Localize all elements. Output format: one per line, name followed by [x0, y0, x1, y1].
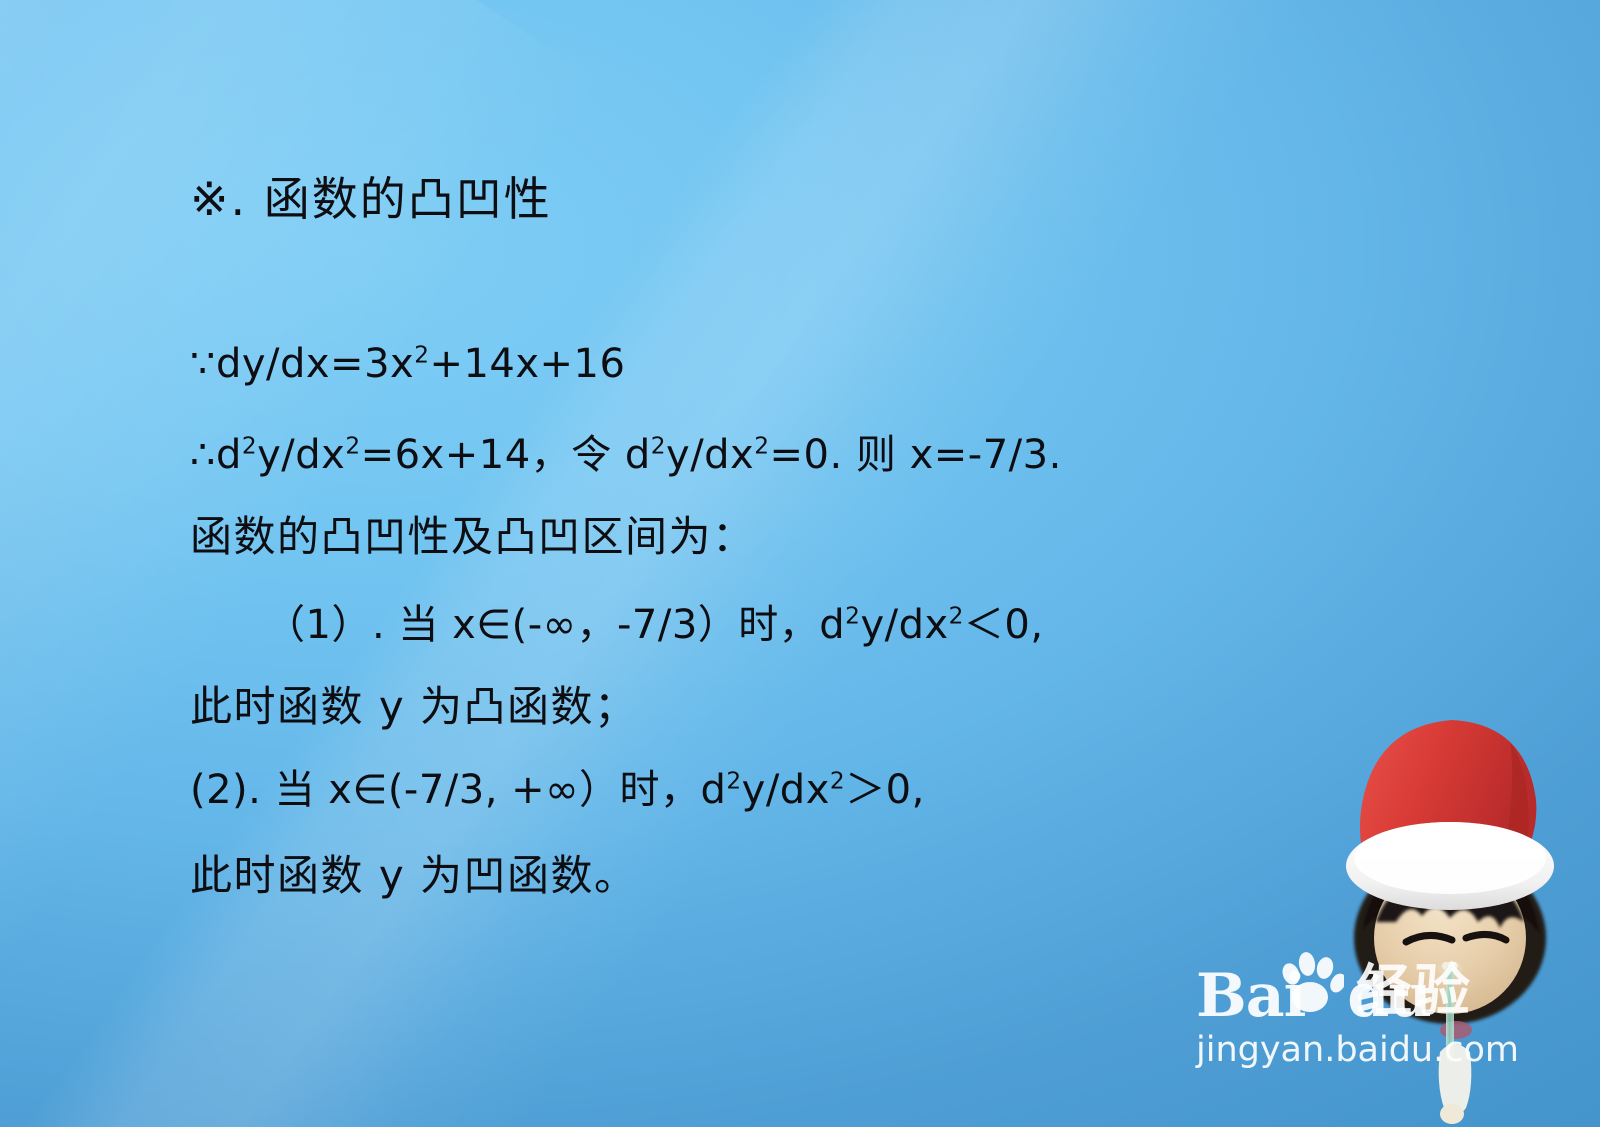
page-title: ※. 函数的凸凹性: [190, 163, 552, 229]
exponent: 2: [845, 603, 860, 630]
equation-text: =6x+14，令 d: [361, 432, 651, 478]
equation-first-derivative: ∵dy/dx=3x2+14x+16: [190, 341, 625, 387]
santa-hat-character-illustration: [1300, 700, 1600, 1127]
case-1-conclusion: 此时函数 y 为凸函数；: [190, 673, 638, 734]
exponent: 2: [651, 433, 666, 460]
exponent: 2: [830, 768, 845, 795]
exponent: 2: [754, 433, 769, 460]
exponent: 2: [726, 768, 741, 795]
equation-second-derivative: ∴d2y/dx2=6x+14，令 d2y/dx2=0. 则 x=-7/3.: [190, 422, 1062, 480]
presentation-slide: ※. 函数的凸凹性 ∵dy/dx=3x2+14x+16 ∴d2y/dx2=6x+…: [0, 0, 1600, 1127]
equation-text: y/dx: [860, 602, 948, 648]
equation-text: ＞0,: [845, 767, 925, 813]
exponent: 2: [345, 433, 360, 460]
equation-text: ＜0,: [964, 602, 1044, 648]
case-2-statement: (2). 当 x∈(-7/3, +∞）时，d2y/dx2＞0,: [190, 757, 925, 815]
equation-text: ∵dy/dx=3x: [190, 341, 414, 387]
case-2-conclusion: 此时函数 y 为凹函数。: [190, 842, 638, 903]
equation-text: =0. 则 x=-7/3.: [770, 432, 1062, 478]
exponent: 2: [414, 342, 429, 369]
case-1-statement: （1）. 当 x∈(-∞，-7/3）时，d2y/dx2＜0,: [265, 592, 1044, 650]
equation-text: （1）. 当 x∈(-∞，-7/3）时，d: [265, 602, 845, 648]
equation-text: y/dx: [666, 432, 754, 478]
equation-text: y/dx: [742, 767, 830, 813]
santa-hat: [1346, 720, 1554, 910]
equation-text: y/dx: [257, 432, 345, 478]
equation-text: ∴d: [190, 432, 242, 478]
equation-text: (2). 当 x∈(-7/3, +∞）时，d: [190, 767, 726, 813]
concavity-heading: 函数的凸凹性及凸凹区间为：: [190, 503, 756, 564]
equation-text: +14x+16: [429, 341, 625, 387]
exponent: 2: [242, 433, 257, 460]
exponent: 2: [949, 603, 964, 630]
